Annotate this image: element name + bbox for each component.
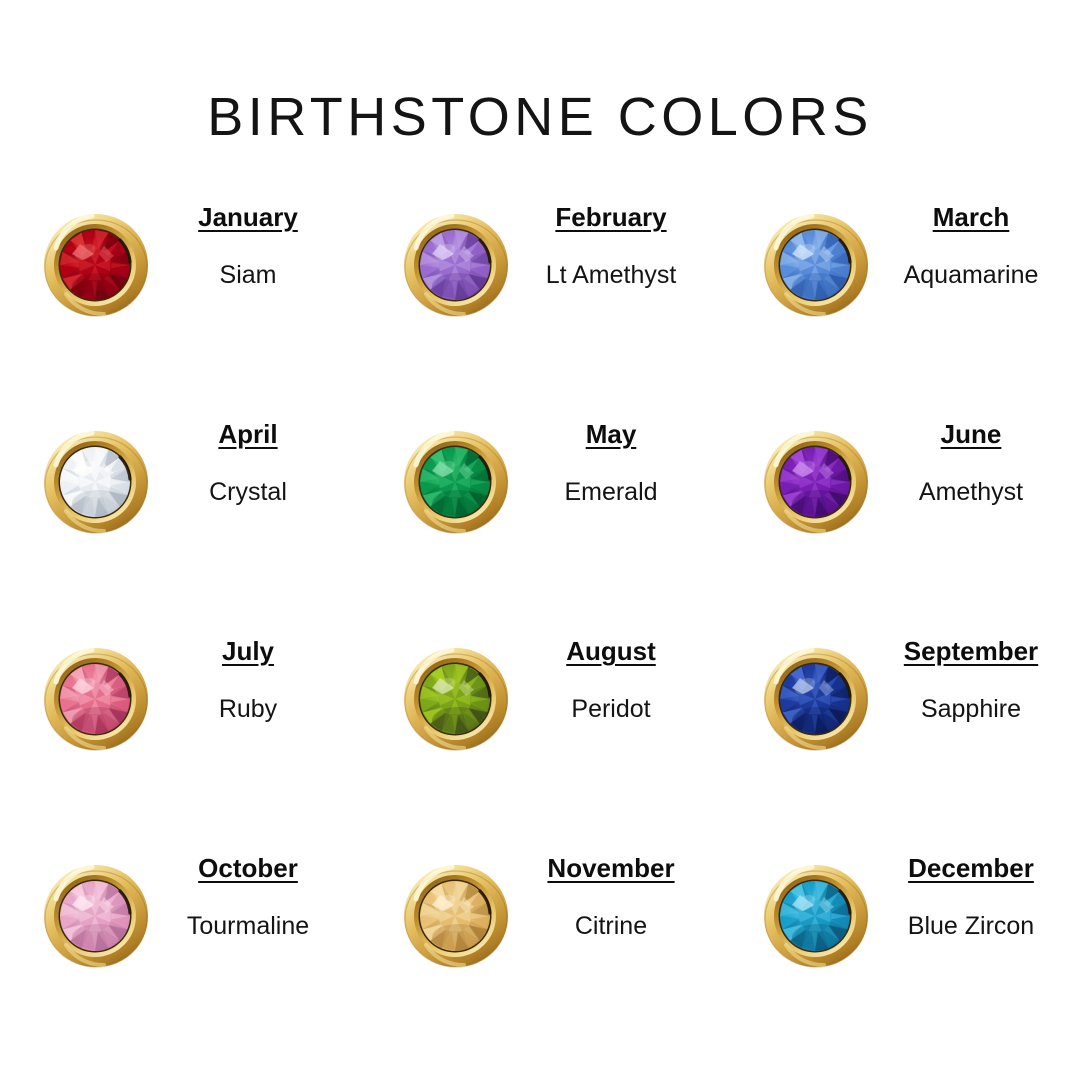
aquamarine-gem	[762, 210, 870, 318]
stone-name-label: Aquamarine	[858, 261, 1080, 289]
sapphire-gem	[762, 644, 870, 752]
month-label: April	[140, 419, 356, 449]
birthstone-cell-march[interactable]: MarchAquamarine	[720, 196, 1080, 413]
lt-amethyst-gem	[402, 210, 510, 318]
month-label: May	[502, 419, 720, 449]
birthstone-cell-april[interactable]: AprilCrystal	[0, 413, 360, 630]
birthstone-cell-november[interactable]: NovemberCitrine	[360, 847, 720, 1064]
month-label: August	[502, 636, 720, 666]
month-label: January	[140, 202, 356, 232]
birthstone-cell-september[interactable]: SeptemberSapphire	[720, 630, 1080, 847]
stone-name-label: Tourmaline	[140, 912, 356, 940]
crystal-gem	[42, 427, 150, 535]
birthstone-cell-december[interactable]: DecemberBlue Zircon	[720, 847, 1080, 1064]
stone-name-label: Emerald	[502, 478, 720, 506]
stone-name-label: Peridot	[502, 695, 720, 723]
month-label: June	[858, 419, 1080, 449]
birthstone-labels: JuneAmethyst	[858, 419, 1080, 506]
birthstone-grid: JanuarySiamFebruaryLt AmethystMarchAquam…	[0, 196, 1080, 1064]
birthstone-labels: MarchAquamarine	[858, 202, 1080, 289]
month-label: December	[858, 853, 1080, 883]
stone-name-label: Citrine	[502, 912, 720, 940]
month-label: November	[502, 853, 720, 883]
stone-name-label: Lt Amethyst	[502, 261, 720, 289]
stone-name-label: Siam	[140, 261, 356, 289]
page-title: BIRTHSTONE COLORS	[0, 86, 1080, 148]
birthstone-colors-poster: BIRTHSTONE COLORS JanuarySiamFebruaryLt …	[0, 0, 1080, 1079]
stone-name-label: Crystal	[140, 478, 356, 506]
tourmaline-gem	[42, 861, 150, 969]
stone-name-label: Blue Zircon	[858, 912, 1080, 940]
birthstone-labels: MayEmerald	[502, 419, 720, 506]
birthstone-labels: AprilCrystal	[140, 419, 356, 506]
birthstone-labels: JanuarySiam	[140, 202, 356, 289]
birthstone-labels: SeptemberSapphire	[858, 636, 1080, 723]
month-label: September	[858, 636, 1080, 666]
month-label: February	[502, 202, 720, 232]
birthstone-cell-january[interactable]: JanuarySiam	[0, 196, 360, 413]
blue-zircon-gem	[762, 861, 870, 969]
stone-name-label: Sapphire	[858, 695, 1080, 723]
birthstone-cell-august[interactable]: AugustPeridot	[360, 630, 720, 847]
birthstone-cell-october[interactable]: OctoberTourmaline	[0, 847, 360, 1064]
stone-name-label: Amethyst	[858, 478, 1080, 506]
birthstone-cell-july[interactable]: JulyRuby	[0, 630, 360, 847]
month-label: October	[140, 853, 356, 883]
siam-gem	[42, 210, 150, 318]
birthstone-cell-may[interactable]: MayEmerald	[360, 413, 720, 630]
birthstone-labels: DecemberBlue Zircon	[858, 853, 1080, 940]
peridot-gem	[402, 644, 510, 752]
stone-name-label: Ruby	[140, 695, 356, 723]
birthstone-labels: NovemberCitrine	[502, 853, 720, 940]
birthstone-cell-february[interactable]: FebruaryLt Amethyst	[360, 196, 720, 413]
birthstone-labels: JulyRuby	[140, 636, 356, 723]
birthstone-labels: FebruaryLt Amethyst	[502, 202, 720, 289]
emerald-gem	[402, 427, 510, 535]
amethyst-gem	[762, 427, 870, 535]
birthstone-labels: OctoberTourmaline	[140, 853, 356, 940]
month-label: July	[140, 636, 356, 666]
month-label: March	[858, 202, 1080, 232]
birthstone-labels: AugustPeridot	[502, 636, 720, 723]
citrine-gem	[402, 861, 510, 969]
ruby-gem	[42, 644, 150, 752]
birthstone-cell-june[interactable]: JuneAmethyst	[720, 413, 1080, 630]
